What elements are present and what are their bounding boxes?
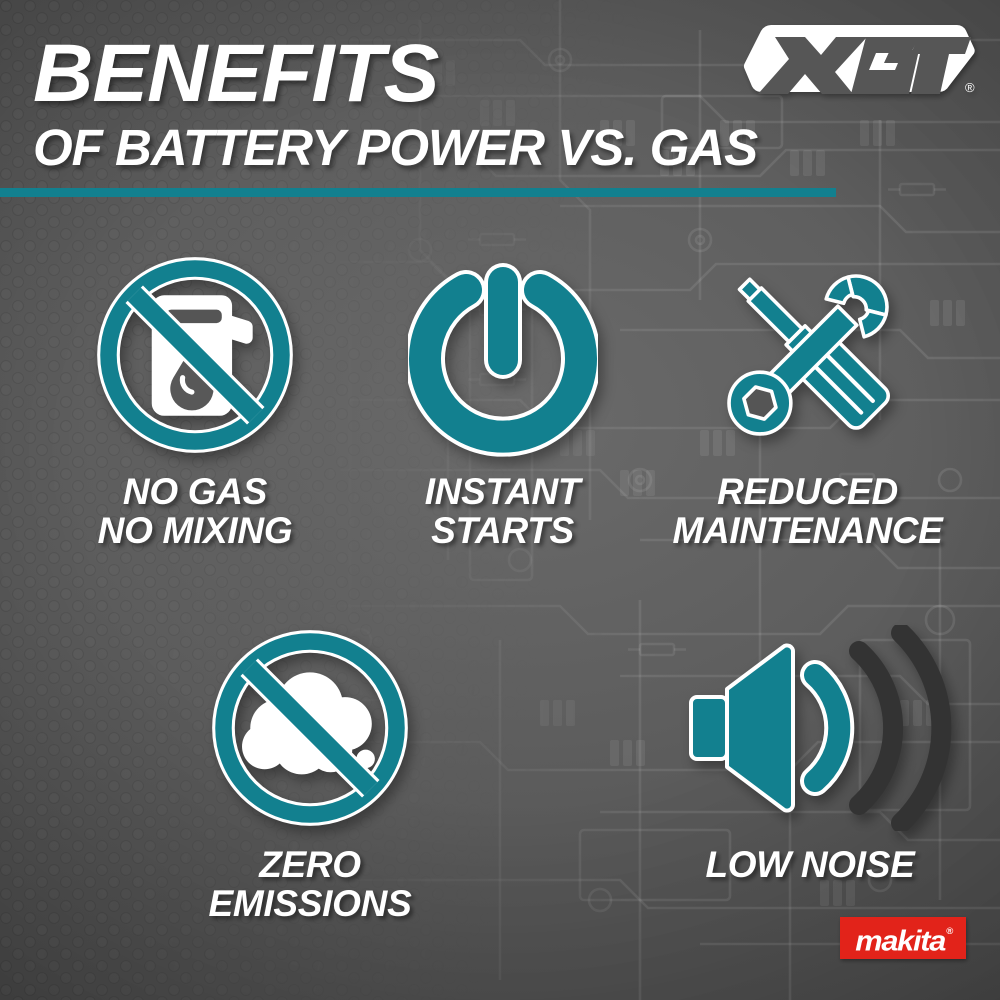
benefit-label: REDUCED MAINTENANCE [672,472,942,550]
no-gas-can-icon [92,252,298,458]
wrench-screwdriver-icon [699,252,917,458]
benefit-label: ZERO EMISSIONS [209,845,412,923]
benefit-label: NO GAS NO MIXING [98,472,293,550]
low-volume-speaker-icon [665,625,955,831]
benefit-low-noise: LOW NOISE [620,625,1000,923]
page-title: BENEFITS [33,33,438,115]
makita-wordmark: makita® [855,923,951,957]
benefit-zero-emissions: ZERO EMISSIONS [0,625,620,923]
registered-mark: ® [946,926,952,936]
power-button-icon [408,252,598,458]
makita-logo: makita® [840,917,966,959]
benefit-instant-starts: INSTANT STARTS [390,252,615,550]
xgt-logo: ® [743,22,975,100]
no-emissions-cloud-icon [207,625,413,831]
benefit-label: LOW NOISE [705,845,914,884]
benefit-label: INSTANT STARTS [425,472,580,550]
benefits-row-1: NO GAS NO MIXING INSTANT STARTS [0,252,1000,550]
page-subtitle: OF BATTERY POWER VS. GAS [33,122,757,173]
benefit-no-gas: NO GAS NO MIXING [0,252,390,550]
benefit-reduced-maintenance: REDUCED MAINTENANCE [615,252,1000,550]
benefits-poster: BENEFITS OF BATTERY POWER VS. GAS ® [0,0,1000,1000]
poster-header: BENEFITS OF BATTERY POWER VS. GAS ® [0,0,1000,200]
makita-wordmark-text: makita [855,926,945,958]
svg-text:®: ® [965,80,975,95]
benefits-row-2: ZERO EMISSIONS LOW NOISE [0,625,1000,923]
header-divider [0,188,836,197]
